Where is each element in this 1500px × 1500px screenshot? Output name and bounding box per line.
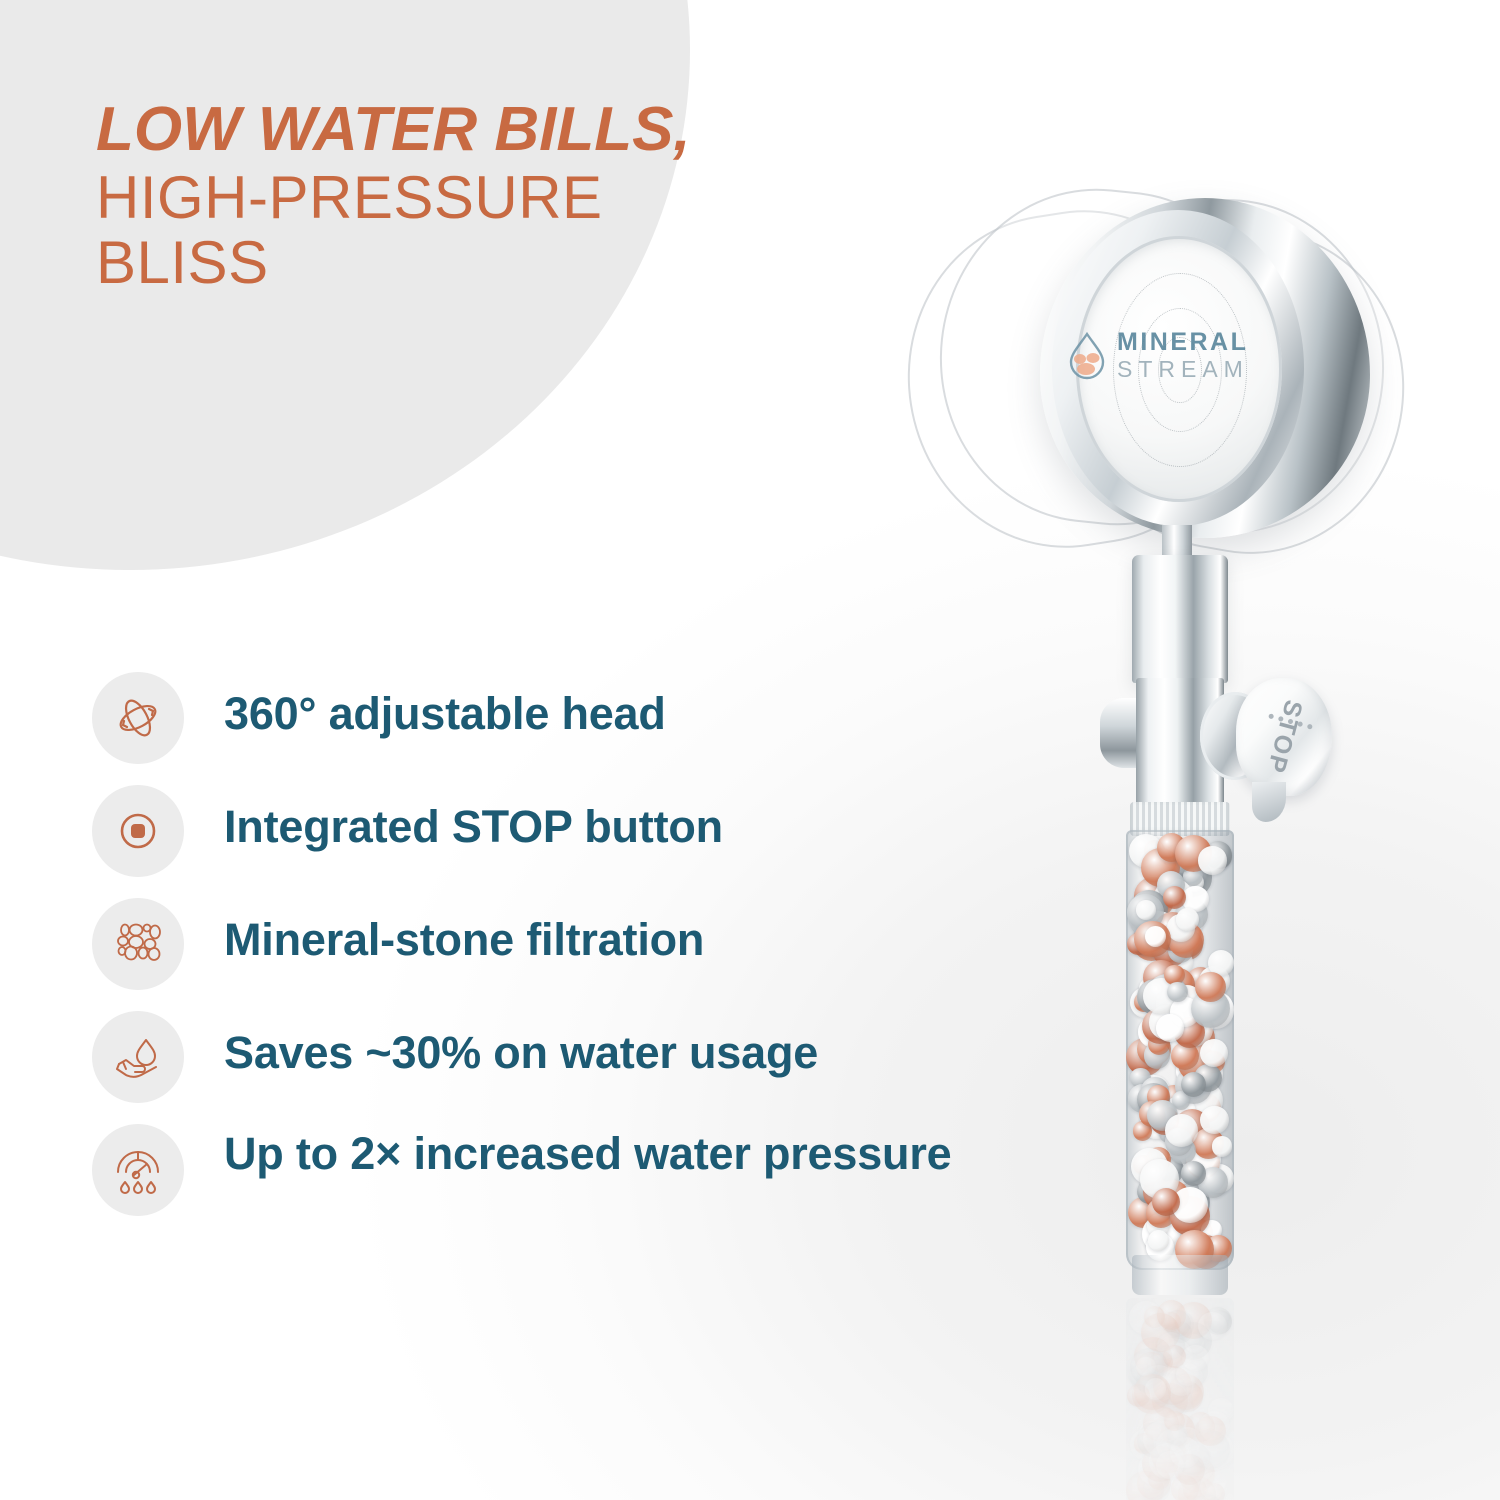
product-image: MINERAL STREAM STOP — [900, 170, 1460, 1500]
list-item-label: Saves ~30% on water usage — [224, 1011, 818, 1078]
infographic-canvas: LOW WATER BILLS, HIGH-PRESSURE BLISS 360… — [0, 0, 1500, 1500]
mineral-bead — [1198, 846, 1226, 874]
filter-chamber-base — [1132, 1255, 1228, 1295]
stop-button-icon — [92, 785, 184, 877]
rotation-360-icon — [92, 672, 184, 764]
list-item-label: Integrated STOP button — [224, 785, 723, 852]
shower-head-face-plate — [1076, 236, 1282, 502]
mineral-bead — [1200, 1472, 1228, 1500]
hand-water-drop-icon — [92, 1011, 184, 1103]
mineral-bead — [1200, 1106, 1228, 1134]
stop-button-label: STOP — [1260, 697, 1308, 778]
mineral-stones-icon — [92, 898, 184, 990]
mineral-bead — [1212, 1136, 1232, 1156]
mineral-bead — [1165, 1114, 1198, 1147]
list-item-label: Up to 2× increased water pressure — [224, 1124, 951, 1179]
mineral-bead — [1145, 1378, 1166, 1399]
mineral-bead — [1167, 1425, 1188, 1446]
shower-head-ring — [1052, 210, 1304, 526]
list-item-label: 360° adjustable head — [224, 672, 666, 739]
mineral-bead — [1156, 1014, 1184, 1042]
mineral-bead — [1181, 1161, 1206, 1186]
mineral-bead — [1176, 908, 1199, 931]
mineral-bead — [1195, 1416, 1225, 1446]
stop-button-lever — [1252, 782, 1286, 822]
headline-line-2: HIGH-PRESSURE — [96, 167, 736, 228]
product-reflection — [1126, 1298, 1234, 1500]
headline-line-1: LOW WATER BILLS, — [96, 98, 736, 161]
list-item-label: Mineral-stone filtration — [224, 898, 704, 965]
mineral-bead — [1167, 982, 1188, 1003]
shower-head-bezel — [1040, 198, 1370, 538]
mineral-bead — [1200, 1039, 1228, 1067]
nozzle-pattern — [1076, 236, 1282, 502]
headline-line-3: BLISS — [96, 232, 736, 293]
handle-upper — [1132, 555, 1228, 683]
mineral-bead — [1198, 1312, 1226, 1340]
mineral-filter-chamber — [1126, 830, 1234, 1270]
swivel-joint — [1162, 525, 1192, 559]
mineral-bead — [1152, 1188, 1180, 1216]
stop-button[interactable]: STOP — [1236, 678, 1332, 796]
mineral-bead — [1195, 972, 1225, 1002]
mineral-bead — [1136, 900, 1156, 920]
pressure-gauge-icon — [92, 1124, 184, 1216]
page-title: LOW WATER BILLS, HIGH-PRESSURE BLISS — [96, 98, 736, 294]
